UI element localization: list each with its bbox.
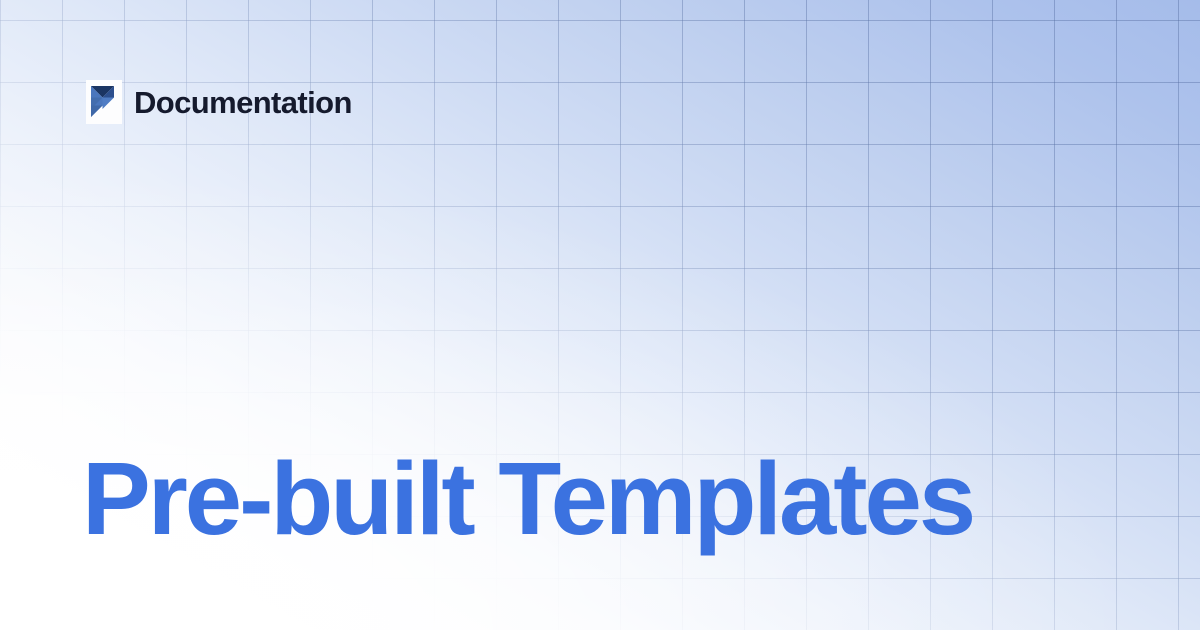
- framer-bolt-logo-icon: [86, 80, 122, 124]
- page-title: Pre-built Templates: [82, 441, 973, 556]
- brand-name-label: Documentation: [134, 87, 352, 118]
- og-card: Documentation Pre-built Templates: [0, 0, 1200, 630]
- brand-row: Documentation: [86, 80, 352, 124]
